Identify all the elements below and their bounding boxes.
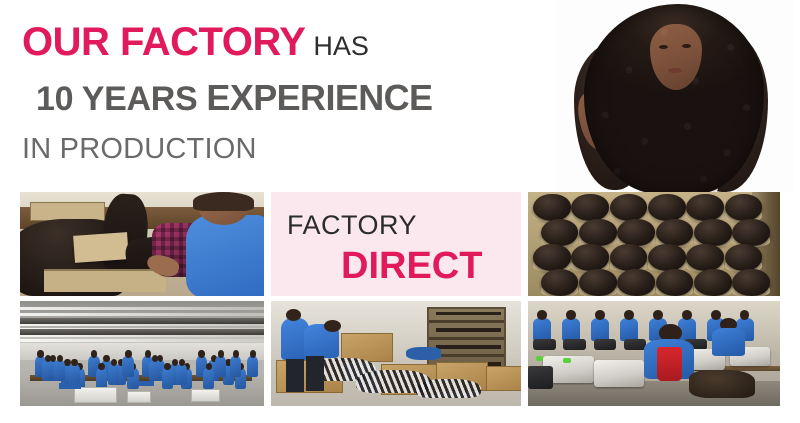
- floor-worker-torso: [69, 364, 80, 385]
- hair-bundle: [610, 244, 648, 271]
- white-crate: [127, 391, 151, 402]
- floor-worker-torso: [108, 364, 119, 385]
- headline-in-production: IN PRODUCTION: [22, 133, 257, 165]
- floor-worker-head: [71, 359, 77, 366]
- sorting-board-lower: [44, 269, 166, 292]
- hair-bundle: [656, 269, 694, 296]
- floor-worker-torso: [149, 360, 160, 381]
- hair-bundle: [648, 194, 686, 221]
- headline-experience: EXPERIENCE: [206, 77, 432, 118]
- photo-hair-sorting-worker: [20, 192, 264, 296]
- hair-bundle: [686, 244, 724, 271]
- hair-bundle: [533, 194, 571, 221]
- floor-worker-head: [125, 350, 131, 357]
- hair-bundle: [694, 219, 732, 246]
- floor-worker-head: [37, 350, 43, 357]
- photo-hair-bundles-table: [528, 192, 780, 296]
- floor-worker-head: [250, 350, 256, 357]
- photo-sewing-production-line: [528, 301, 780, 406]
- floor-worker-torso: [203, 368, 214, 389]
- floor-worker-head: [218, 350, 224, 357]
- ceiling-beam: [20, 339, 264, 342]
- floor-worker-head: [233, 350, 239, 357]
- hair-bundle: [571, 194, 609, 221]
- floor-worker-torso: [122, 356, 133, 377]
- hair-bundle: [732, 219, 770, 246]
- rack-contents: [436, 312, 501, 367]
- hair-bundle: [656, 219, 694, 246]
- back-row-worker-head: [537, 310, 547, 319]
- machine-indicator-lamp: [563, 358, 571, 363]
- floor-worker-head: [57, 355, 63, 362]
- back-row-worker-torso: [620, 318, 638, 341]
- packer-head: [286, 309, 301, 321]
- worker-hair: [193, 192, 254, 211]
- overlock-machine: [594, 339, 617, 351]
- ceiling-beam: [20, 307, 264, 310]
- floor-worker-torso: [215, 356, 226, 377]
- white-crate: [74, 387, 117, 403]
- photo-grid: FACTORY DIRECT: [20, 192, 780, 411]
- photo-packing-cartons: [271, 301, 521, 406]
- back-row-worker-head: [566, 310, 576, 319]
- hair-bundle: [686, 194, 724, 221]
- floor-worker-torso: [96, 368, 107, 389]
- operator-red-apron: [657, 347, 682, 381]
- carton-far-right: [486, 366, 521, 391]
- floor-worker-head: [145, 350, 151, 357]
- floor-worker-head: [45, 355, 51, 362]
- hair-bundle: [725, 244, 763, 271]
- hair-bundle: [725, 194, 763, 221]
- hair-bundle: [541, 219, 579, 246]
- model-photo: [556, 0, 794, 192]
- hair-bundle: [732, 269, 770, 296]
- blue-bin: [59, 383, 81, 389]
- back-row-worker-torso: [533, 318, 551, 341]
- headline-line-3: IN PRODUCTION: [22, 135, 257, 164]
- operator-torso-right: [712, 328, 745, 355]
- floor-worker-head: [111, 359, 117, 366]
- white-crate: [191, 389, 220, 402]
- hair-bundle: [648, 244, 686, 271]
- overlock-machine: [563, 339, 586, 351]
- back-row-worker-head: [595, 310, 605, 319]
- factory-direct-panel: FACTORY DIRECT: [271, 192, 521, 296]
- back-row-worker-head: [682, 310, 692, 319]
- floor-worker-torso: [42, 360, 53, 381]
- back-row-worker-torso: [591, 318, 609, 341]
- hair-bundle: [571, 244, 609, 271]
- hair-bundle: [610, 194, 648, 221]
- floor-worker-torso: [176, 364, 187, 385]
- sewing-machine: [594, 360, 644, 387]
- floor-worker-head: [98, 363, 104, 370]
- blue-bin: [137, 381, 154, 386]
- packer-legs: [286, 359, 304, 393]
- hair-bundle: [541, 269, 579, 296]
- back-row-worker-head: [653, 310, 663, 319]
- ceiling-duct: [20, 318, 264, 324]
- headline-our-factory: OUR FACTORY: [22, 20, 305, 64]
- ceiling-duct: [20, 329, 264, 335]
- fabric-pile: [689, 370, 755, 397]
- back-row-worker-torso: [562, 318, 580, 341]
- ceiling-beam: [20, 313, 264, 316]
- machine-wheel: [528, 366, 553, 389]
- hair-bundle: [617, 219, 655, 246]
- model-hair-curl-texture: [574, 6, 770, 192]
- sorting-board-mid: [73, 232, 128, 263]
- floor-worker-head: [91, 350, 97, 357]
- hair-bundle: [579, 269, 617, 296]
- hair-bundle: [533, 244, 571, 271]
- floor-worker-head: [164, 363, 170, 370]
- hair-bundle: [579, 219, 617, 246]
- headline-line-2: 10 YEARSEXPERIENCE: [22, 80, 432, 116]
- hair-bundle: [694, 269, 732, 296]
- back-row-worker-head: [711, 310, 721, 319]
- headline-line-1: OUR FACTORYHAS: [22, 22, 369, 62]
- factory-banner: OUR FACTORYHAS 10 YEARSEXPERIENCE IN PRO…: [0, 0, 800, 423]
- blue-bag: [406, 347, 441, 360]
- floor-worker-torso: [247, 356, 258, 377]
- product-pile: [416, 379, 481, 398]
- panel-text-direct: DIRECT: [341, 247, 482, 285]
- photo-factory-floor-workers: [20, 301, 264, 406]
- panel-text-factory: FACTORY: [287, 212, 417, 239]
- headline-block: OUR FACTORYHAS 10 YEARSEXPERIENCE IN PRO…: [0, 0, 560, 190]
- floor-worker-head: [103, 355, 109, 362]
- overlock-machine: [533, 339, 556, 351]
- floor-worker-torso: [54, 360, 65, 381]
- headline-ten-years: 10 YEARS: [36, 80, 197, 118]
- headline-has: HAS: [313, 31, 369, 61]
- hair-bundle: [617, 269, 655, 296]
- floor-worker-head: [198, 350, 204, 357]
- floor-worker-torso: [230, 356, 241, 377]
- back-row-worker-head: [624, 310, 634, 319]
- worker-blue-shirt: [186, 215, 264, 296]
- floor-worker-torso: [162, 368, 173, 389]
- machine-indicator-lamp: [536, 356, 544, 361]
- packer-legs: [306, 356, 324, 392]
